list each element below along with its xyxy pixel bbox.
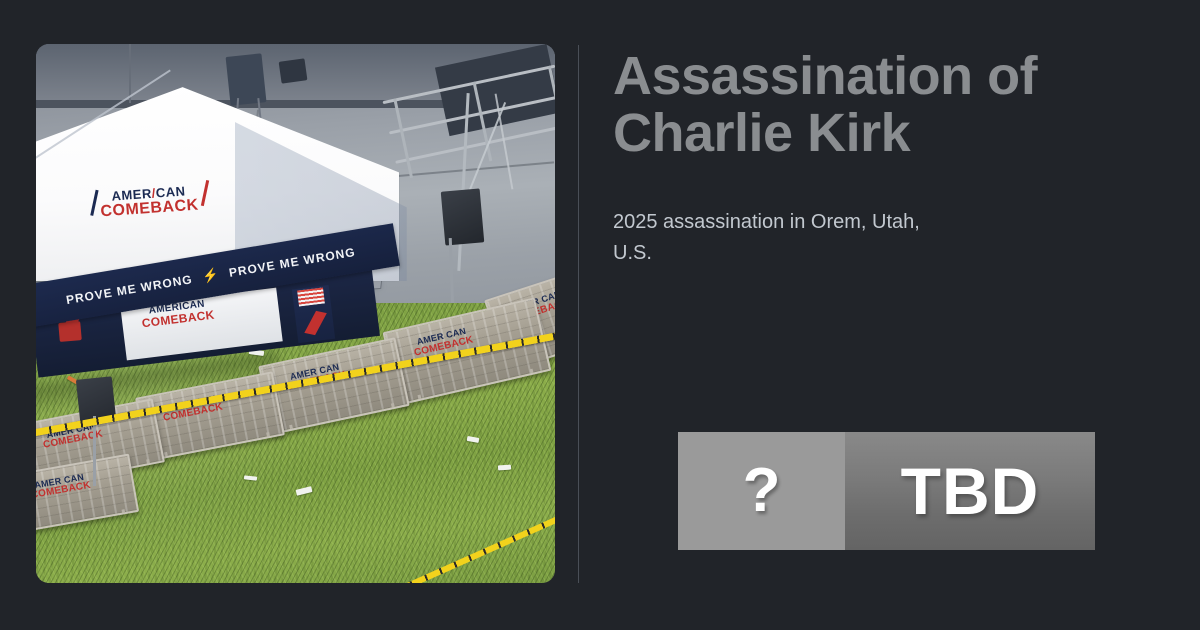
info-pane: Assassination of Charlie Kirk 2025 assas… bbox=[613, 48, 1153, 269]
red-cooler bbox=[58, 321, 82, 342]
page-title: Assassination of Charlie Kirk bbox=[613, 48, 1153, 162]
event-tent: AMER/CAN COMEBACK AMERICAN COMEBACK PRO bbox=[36, 87, 399, 357]
valance-text-right: PROVE ME WRONG bbox=[228, 245, 357, 280]
article-thumbnail[interactable]: AMER CAN COMEBACK AMER CAN COMEBACK AMER… bbox=[36, 44, 555, 583]
lightning-bolt-icon: ⚡ bbox=[201, 266, 221, 285]
aerial-scene-photo: AMER CAN COMEBACK AMER CAN COMEBACK AMER… bbox=[36, 44, 555, 583]
speaker-pole bbox=[93, 416, 96, 486]
tbd-badge-icon-panel: ? bbox=[678, 432, 845, 550]
question-mark-icon: ? bbox=[743, 460, 781, 522]
valance-text-left: PROVE ME WRONG bbox=[65, 272, 194, 307]
barricade-banner: AMER CAN COMEBACK bbox=[36, 472, 92, 502]
tbd-badge-label: TBD bbox=[901, 458, 1040, 524]
tbd-badge-label-panel: TBD bbox=[845, 432, 1095, 550]
vertical-divider bbox=[578, 45, 579, 583]
pa-speaker bbox=[441, 188, 484, 245]
equipment-box bbox=[279, 58, 308, 83]
page-subtitle: 2025 assassination in Orem, Utah, U.S. bbox=[613, 207, 923, 269]
tbd-badge[interactable]: ? TBD bbox=[678, 432, 1095, 550]
preview-card: AMER CAN COMEBACK AMER CAN COMEBACK AMER… bbox=[0, 0, 1200, 630]
